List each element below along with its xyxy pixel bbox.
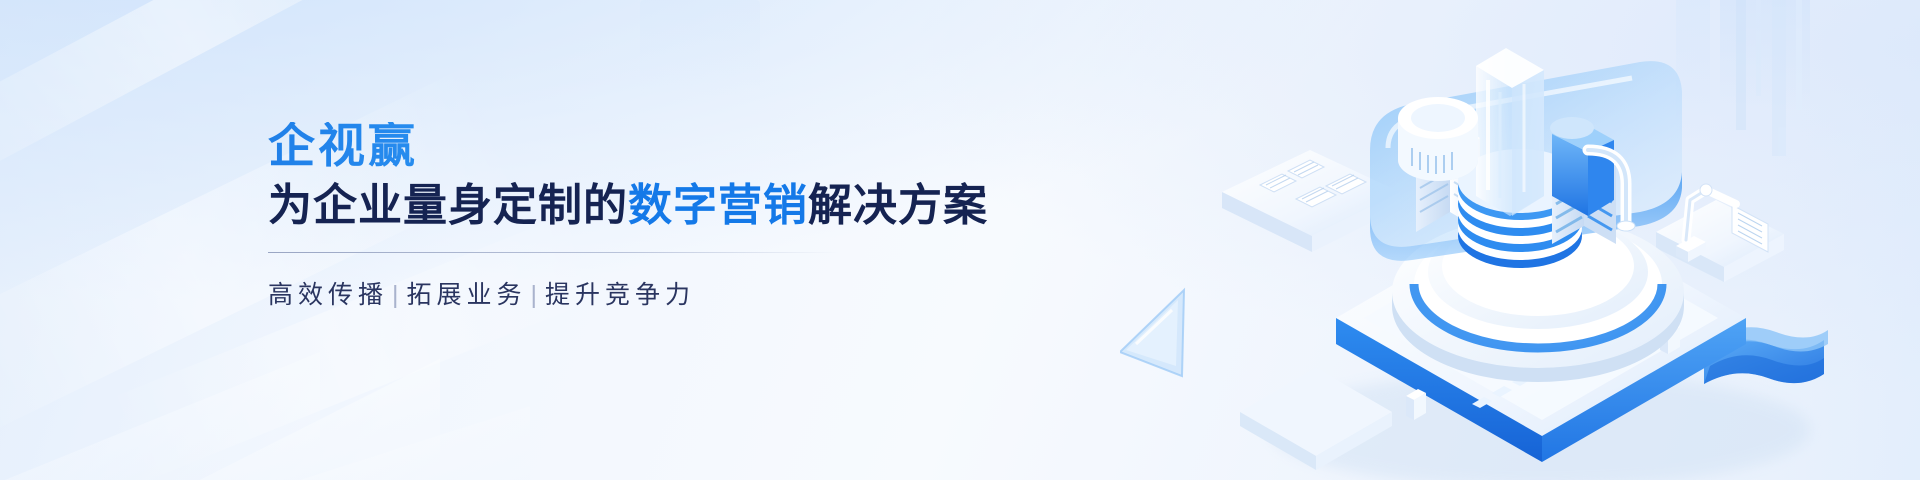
glass-tube-tower xyxy=(1476,48,1544,216)
corner-wedge-3 xyxy=(300,368,530,480)
tagline-item-1: 高效传播 xyxy=(268,281,388,309)
headline-after: 解决方案 xyxy=(808,181,988,230)
hero-illustration xyxy=(1120,0,1920,480)
light-beams xyxy=(1736,0,1802,156)
corner-wedge-1 xyxy=(180,330,440,480)
divider-line xyxy=(268,252,838,253)
hero-banner: 企视赢 为企业量身定制的数字营销解决方案 高效传播|拓展业务|提升竞争力 xyxy=(0,0,1920,480)
headline: 为企业量身定制的数字营销解决方案 xyxy=(268,181,908,230)
tagline: 高效传播|拓展业务|提升竞争力 xyxy=(268,275,908,311)
brand-title: 企视赢 xyxy=(268,122,908,171)
top-left-tint xyxy=(640,0,760,96)
tagline-separator-2: | xyxy=(531,281,538,309)
cooling-tank xyxy=(1398,97,1478,181)
headline-highlight: 数字营销 xyxy=(628,181,808,230)
glass-triangle xyxy=(1120,290,1184,376)
tagline-separator-1: | xyxy=(392,281,399,309)
headline-before: 为企业量身定制的 xyxy=(268,181,628,230)
tagline-item-3: 提升竞争力 xyxy=(545,281,695,309)
corner-wedge-2 xyxy=(0,352,320,480)
tagline-item-2: 拓展业务 xyxy=(407,281,527,309)
banner-copy: 企视赢 为企业量身定制的数字营销解决方案 高效传播|拓展业务|提升竞争力 xyxy=(268,122,908,311)
